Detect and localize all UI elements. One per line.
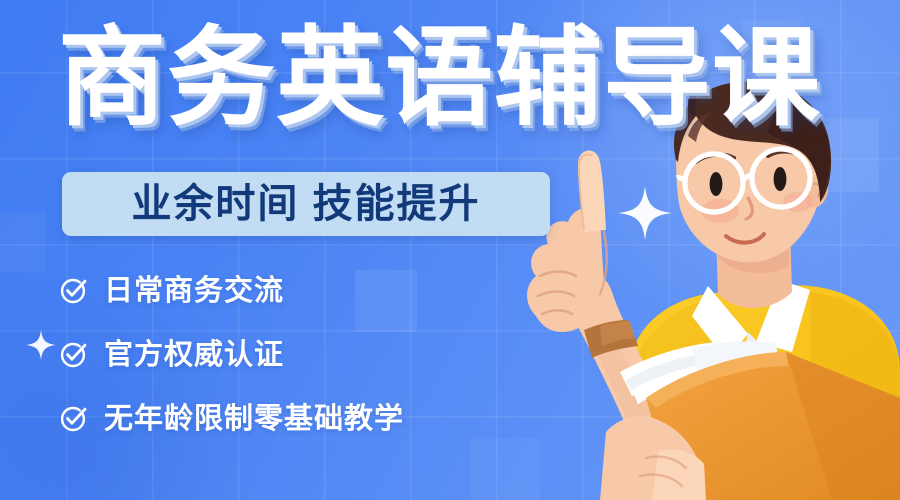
list-item: 日常商务交流	[58, 272, 404, 310]
list-item: 无年龄限制零基础教学	[58, 400, 404, 438]
subtitle-pill: 业余时间 技能提升	[62, 172, 550, 236]
check-circle-icon	[58, 276, 88, 306]
student-pointing-illustration	[480, 80, 900, 500]
subtitle-text: 业余时间 技能提升	[131, 182, 480, 226]
promo-banner: 商务英语辅导课 业余时间 技能提升 日常商务交流 官方权威认证	[0, 0, 900, 500]
list-item: 官方权威认证	[58, 336, 404, 374]
list-item-label: 日常商务交流	[104, 275, 284, 307]
list-item-label: 官方权威认证	[104, 339, 284, 371]
sparkle-icon	[26, 330, 56, 360]
background-square-accent	[0, 212, 46, 272]
check-circle-icon	[58, 404, 88, 434]
page-title: 商务英语辅导课	[58, 22, 821, 134]
check-circle-icon	[58, 340, 88, 370]
list-item-label: 无年龄限制零基础教学	[104, 403, 404, 435]
feature-list: 日常商务交流 官方权威认证 无年龄限制零基础教学	[58, 272, 404, 438]
